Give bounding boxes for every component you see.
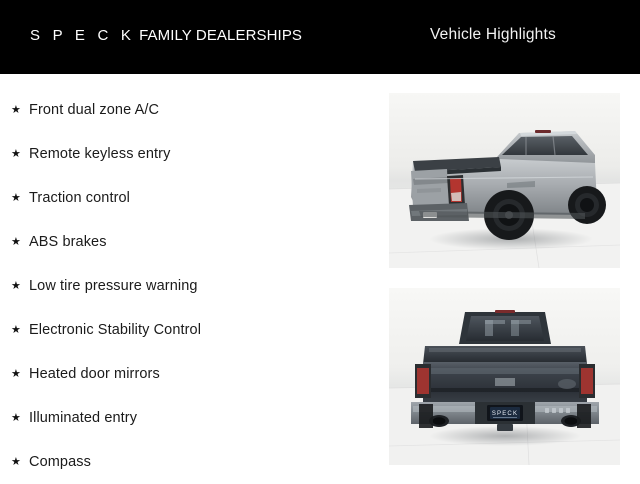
star-icon: ★ bbox=[11, 457, 29, 468]
list-item: ★ Electronic Stability Control bbox=[0, 308, 370, 352]
truck-rear-straight-illustration: SPECK bbox=[389, 288, 620, 465]
star-icon: ★ bbox=[11, 237, 29, 248]
list-item: ★ Compass bbox=[0, 440, 370, 484]
truck-rear-quarter-illustration bbox=[389, 93, 620, 268]
feature-label: Front dual zone A/C bbox=[29, 102, 159, 118]
license-plate-text: SPECK bbox=[492, 411, 518, 417]
star-icon: ★ bbox=[11, 413, 29, 424]
page-title: Vehicle Highlights bbox=[430, 26, 556, 44]
feature-label: ABS brakes bbox=[29, 234, 107, 250]
feature-label: Illuminated entry bbox=[29, 410, 137, 426]
header-bar: S P E C K FAMILY DEALERSHIPS Vehicle Hig… bbox=[0, 0, 640, 74]
brand-subtitle-text: FAMILY DEALERSHIPS bbox=[139, 27, 302, 44]
list-item: ★ Traction control bbox=[0, 176, 370, 220]
star-icon: ★ bbox=[11, 193, 29, 204]
feature-label: Electronic Stability Control bbox=[29, 322, 201, 338]
star-icon: ★ bbox=[11, 105, 29, 116]
feature-label: Heated door mirrors bbox=[29, 366, 160, 382]
feature-label: Traction control bbox=[29, 190, 130, 206]
star-icon: ★ bbox=[11, 281, 29, 292]
star-icon: ★ bbox=[11, 325, 29, 336]
vehicle-photo-rear-straight[interactable]: SPECK bbox=[389, 288, 620, 465]
vehicle-highlights-slide: S P E C K FAMILY DEALERSHIPS Vehicle Hig… bbox=[0, 0, 640, 480]
vehicle-features-list: ★ Front dual zone A/C ★ Remote keyless e… bbox=[0, 88, 370, 484]
feature-label: Compass bbox=[29, 454, 91, 470]
feature-label: Low tire pressure warning bbox=[29, 278, 198, 294]
vehicle-photo-rear-quarter[interactable] bbox=[389, 93, 620, 268]
list-item: ★ Front dual zone A/C bbox=[0, 88, 370, 132]
dealership-brand: S P E C K FAMILY DEALERSHIPS bbox=[30, 27, 302, 44]
list-item: ★ Heated door mirrors bbox=[0, 352, 370, 396]
list-item: ★ Remote keyless entry bbox=[0, 132, 370, 176]
feature-label: Remote keyless entry bbox=[29, 146, 170, 162]
list-item: ★ Low tire pressure warning bbox=[0, 264, 370, 308]
list-item: ★ ABS brakes bbox=[0, 220, 370, 264]
star-icon: ★ bbox=[11, 369, 29, 380]
list-item: ★ Illuminated entry bbox=[0, 396, 370, 440]
brand-mark-text: S P E C K bbox=[30, 27, 135, 44]
star-icon: ★ bbox=[11, 149, 29, 160]
